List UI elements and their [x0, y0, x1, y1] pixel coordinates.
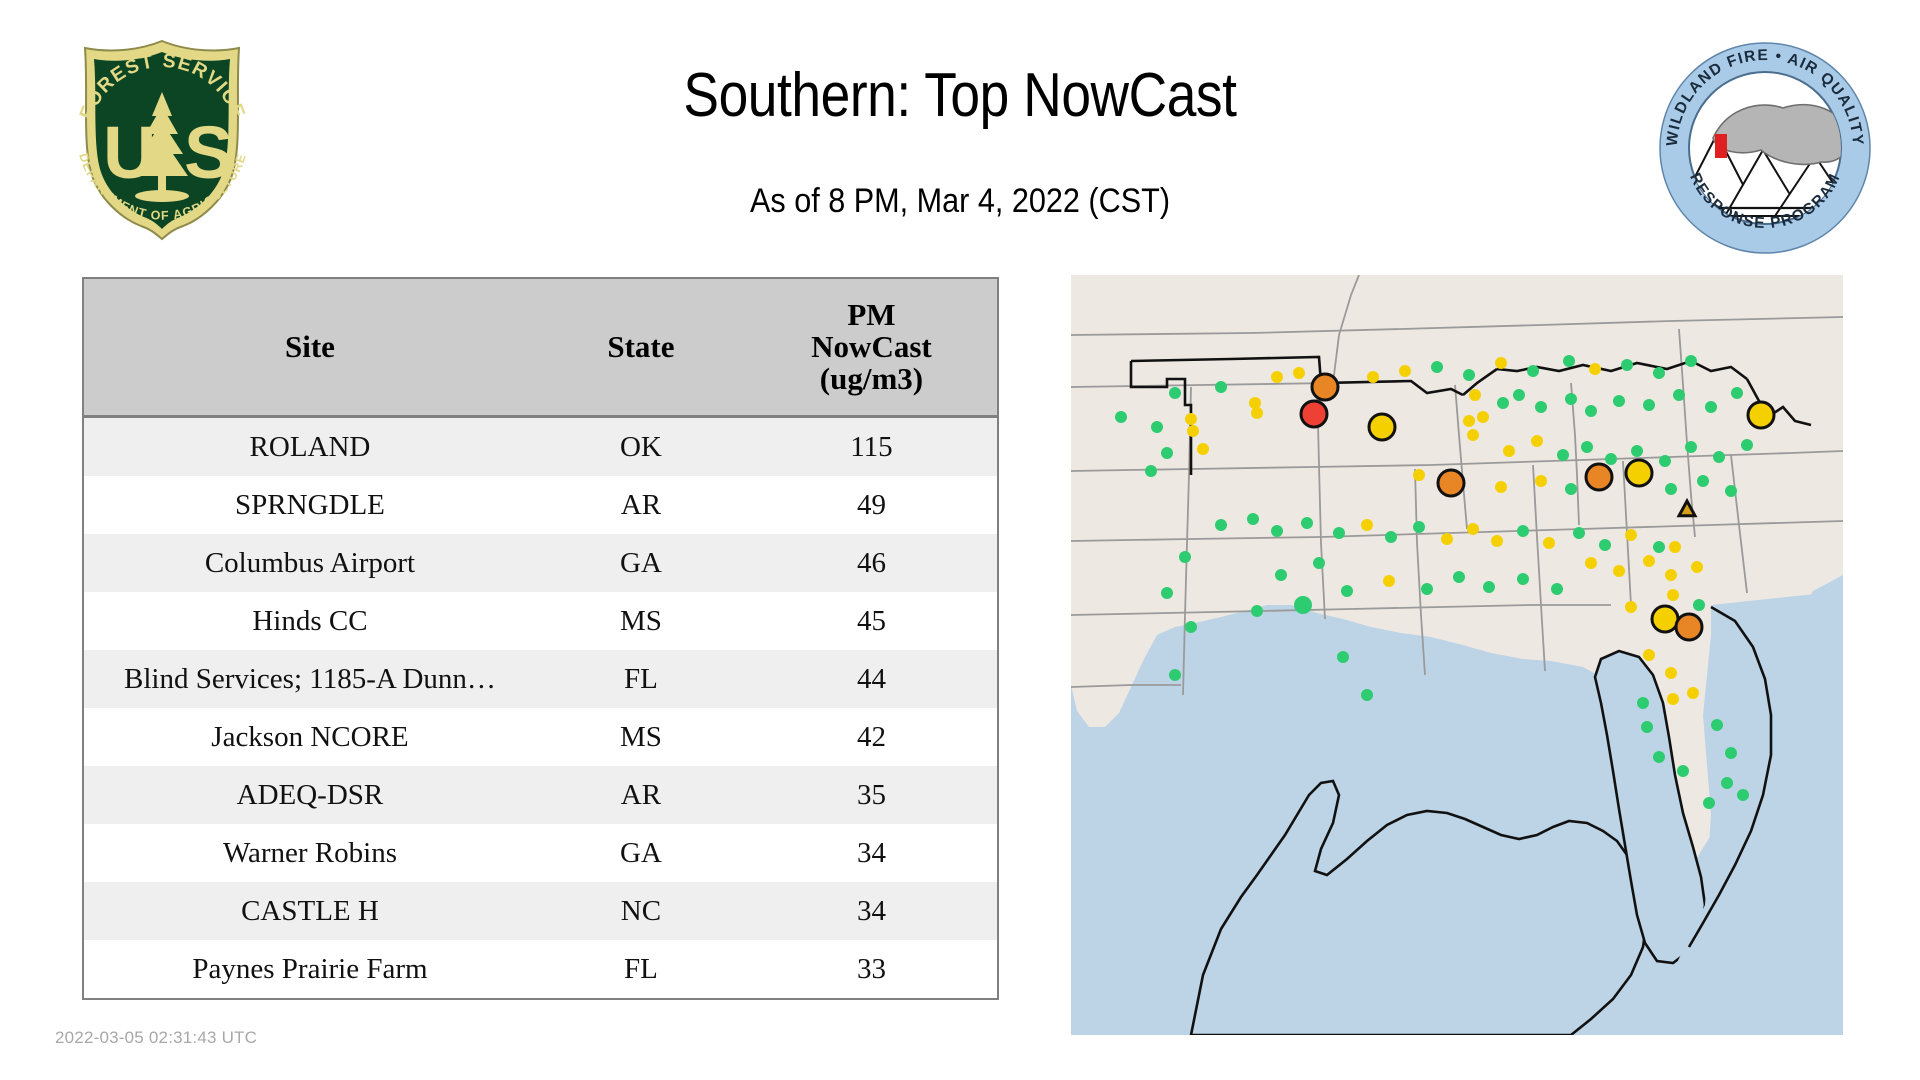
monitor-marker[interactable] — [1565, 393, 1577, 405]
nowcast-table: Site State PM NowCast (ug/m3) ROLANDOK11… — [84, 279, 997, 998]
monitor-marker[interactable] — [1453, 571, 1465, 583]
monitor-marker[interactable] — [1431, 361, 1443, 373]
monitor-marker[interactable] — [1581, 441, 1593, 453]
table-row[interactable]: Jackson NCOREMS42 — [84, 708, 997, 766]
monitor-marker[interactable] — [1669, 541, 1681, 553]
monitor-marker[interactable] — [1605, 453, 1617, 465]
cell-state: MS — [536, 592, 746, 650]
nowcast-table-container: Site State PM NowCast (ug/m3) ROLANDOK11… — [82, 277, 999, 1000]
table-row[interactable]: Paynes Prairie FarmFL33 — [84, 940, 997, 998]
monitor-marker[interactable] — [1293, 367, 1305, 379]
monitor-marker[interactable] — [1711, 719, 1723, 731]
monitor-marker[interactable] — [1693, 599, 1705, 611]
monitor-marker[interactable] — [1469, 389, 1481, 401]
monitor-marker[interactable] — [1421, 583, 1433, 595]
monitor-marker[interactable] — [1145, 465, 1157, 477]
monitor-marker[interactable] — [1249, 397, 1261, 409]
monitor-marker[interactable] — [1463, 415, 1475, 427]
cell-pm-nowcast: 44 — [746, 650, 997, 708]
monitor-marker[interactable] — [1383, 575, 1395, 587]
monitor-marker[interactable] — [1187, 425, 1199, 437]
monitor-marker[interactable] — [1399, 365, 1411, 377]
monitor-marker[interactable] — [1585, 557, 1597, 569]
cell-state: GA — [536, 534, 746, 592]
monitor-marker[interactable] — [1151, 421, 1163, 433]
svg-text:S: S — [184, 111, 233, 194]
monitor-marker[interactable] — [1685, 441, 1697, 453]
monitor-marker[interactable] — [1741, 439, 1753, 451]
monitor-marker[interactable] — [1413, 521, 1425, 533]
monitor-marker[interactable] — [1653, 751, 1665, 763]
monitor-marker[interactable] — [1483, 581, 1495, 593]
monitor-marker[interactable] — [1563, 355, 1575, 367]
table-row[interactable]: Warner RobinsGA34 — [84, 824, 997, 882]
column-header-site[interactable]: Site — [84, 279, 536, 417]
cell-pm-nowcast: 34 — [746, 824, 997, 882]
monitor-marker[interactable] — [1271, 371, 1283, 383]
monitor-marker[interactable] — [1361, 689, 1373, 701]
cell-pm-nowcast: 42 — [746, 708, 997, 766]
cell-pm-nowcast: 34 — [746, 882, 997, 940]
monitor-marker[interactable] — [1313, 557, 1325, 569]
monitor-marker[interactable] — [1467, 523, 1479, 535]
monitor-marker[interactable] — [1197, 443, 1209, 455]
cell-site: ROLAND — [84, 417, 536, 477]
cell-state: GA — [536, 824, 746, 882]
monitor-marker[interactable] — [1115, 411, 1127, 423]
cell-state: FL — [536, 650, 746, 708]
monitor-marker[interactable] — [1613, 395, 1625, 407]
monitor-marker[interactable] — [1586, 464, 1612, 490]
monitor-marker[interactable] — [1685, 355, 1697, 367]
monitor-marker[interactable] — [1215, 381, 1227, 393]
table-row[interactable]: ADEQ-DSRAR35 — [84, 766, 997, 824]
wfaqrp-circle-logo: WILDLAND FIRE • AIR QUALITY RESPONSE PRO… — [1655, 38, 1875, 258]
monitor-marker[interactable] — [1625, 601, 1637, 613]
slide-root: FOREST SERVICE DEPARTMENT OF AGRICULTURE… — [0, 0, 1920, 1080]
monitor-marker[interactable] — [1725, 485, 1737, 497]
monitor-marker[interactable] — [1599, 539, 1611, 551]
generated-timestamp: 2022-03-05 02:31:43 UTC — [55, 1028, 257, 1048]
monitor-marker[interactable] — [1625, 529, 1637, 541]
monitor-marker[interactable] — [1643, 399, 1655, 411]
column-header-pm-nowcast[interactable]: PM NowCast (ug/m3) — [746, 279, 997, 417]
monitor-marker[interactable] — [1294, 596, 1312, 614]
monitor-marker[interactable] — [1495, 357, 1507, 369]
cell-site: Jackson NCORE — [84, 708, 536, 766]
monitor-marker[interactable] — [1652, 606, 1678, 632]
monitor-marker[interactable] — [1737, 789, 1749, 801]
monitor-marker[interactable] — [1161, 447, 1173, 459]
monitor-marker[interactable] — [1463, 369, 1475, 381]
monitor-marker[interactable] — [1748, 402, 1774, 428]
monitor-marker[interactable] — [1215, 519, 1227, 531]
monitor-marker[interactable] — [1677, 765, 1689, 777]
air-quality-map[interactable]: Air Quality Index HazardousVery Unhealth… — [1071, 275, 1843, 1035]
cell-site: Hinds CC — [84, 592, 536, 650]
monitor-marker[interactable] — [1667, 693, 1679, 705]
cell-site: SPRNGDLE — [84, 476, 536, 534]
page-title: Southern: Top NowCast — [504, 60, 1416, 131]
monitor-marker[interactable] — [1369, 414, 1395, 440]
monitor-marker[interactable] — [1673, 389, 1685, 401]
pm-line-3: (ug/m3) — [820, 361, 923, 396]
monitor-marker[interactable] — [1367, 371, 1379, 383]
monitor-marker[interactable] — [1703, 797, 1715, 809]
pm-line-1: PM — [847, 297, 895, 332]
monitor-marker[interactable] — [1713, 451, 1725, 463]
monitor-marker[interactable] — [1341, 585, 1353, 597]
monitor-marker[interactable] — [1441, 533, 1453, 545]
cell-state: AR — [536, 766, 746, 824]
monitor-marker[interactable] — [1589, 363, 1601, 375]
table-row[interactable]: ROLANDOK115 — [84, 417, 997, 477]
monitor-marker[interactable] — [1185, 413, 1197, 425]
cell-site: CASTLE H — [84, 882, 536, 940]
monitor-marker[interactable] — [1565, 483, 1577, 495]
monitor-marker[interactable] — [1497, 397, 1509, 409]
monitor-marker[interactable] — [1361, 519, 1373, 531]
monitor-marker[interactable] — [1438, 470, 1464, 496]
monitor-marker[interactable] — [1247, 513, 1259, 525]
monitor-marker[interactable] — [1179, 551, 1191, 563]
monitor-marker[interactable] — [1251, 605, 1263, 617]
table-row[interactable]: CASTLE HNC34 — [84, 882, 997, 940]
monitor-marker[interactable] — [1185, 621, 1197, 633]
pm-line-2: NowCast — [811, 329, 932, 364]
cell-site: Warner Robins — [84, 824, 536, 882]
cell-state: MS — [536, 708, 746, 766]
monitor-marker[interactable] — [1275, 569, 1287, 581]
monitor-marker[interactable] — [1643, 649, 1655, 661]
monitor-marker[interactable] — [1665, 569, 1677, 581]
monitor-marker[interactable] — [1573, 527, 1585, 539]
monitor-marker[interactable] — [1731, 387, 1743, 399]
monitor-marker[interactable] — [1491, 535, 1503, 547]
cell-site: ADEQ-DSR — [84, 766, 536, 824]
monitor-marker[interactable] — [1413, 469, 1425, 481]
table-row[interactable]: SPRNGDLEAR49 — [84, 476, 997, 534]
monitor-marker[interactable] — [1676, 614, 1702, 640]
monitor-marker[interactable] — [1653, 367, 1665, 379]
monitor-marker[interactable] — [1503, 445, 1515, 457]
monitor-marker[interactable] — [1535, 475, 1547, 487]
monitor-marker[interactable] — [1527, 365, 1539, 377]
monitor-marker[interactable] — [1467, 429, 1479, 441]
cell-state: AR — [536, 476, 746, 534]
monitor-marker[interactable] — [1513, 389, 1525, 401]
monitor-marker[interactable] — [1687, 687, 1699, 699]
monitor-marker[interactable] — [1637, 697, 1649, 709]
monitor-marker[interactable] — [1697, 475, 1709, 487]
monitor-marker[interactable] — [1643, 555, 1655, 567]
monitor-marker[interactable] — [1385, 531, 1397, 543]
monitor-marker[interactable] — [1551, 583, 1563, 595]
table-row[interactable]: Hinds CCMS45 — [84, 592, 997, 650]
cell-pm-nowcast: 49 — [746, 476, 997, 534]
usfs-shield-logo: FOREST SERVICE DEPARTMENT OF AGRICULTURE… — [55, 30, 270, 245]
monitor-marker[interactable] — [1665, 667, 1677, 679]
monitor-marker[interactable] — [1691, 561, 1703, 573]
monitor-marker[interactable] — [1543, 537, 1555, 549]
column-header-state[interactable]: State — [536, 279, 746, 417]
monitor-marker[interactable] — [1721, 777, 1733, 789]
monitor-marker[interactable] — [1169, 387, 1181, 399]
map-canvas[interactable] — [1071, 275, 1843, 1035]
monitor-marker[interactable] — [1705, 401, 1717, 413]
cell-state: NC — [536, 882, 746, 940]
monitor-marker[interactable] — [1641, 721, 1653, 733]
monitor-marker[interactable] — [1631, 445, 1643, 457]
cell-pm-nowcast: 45 — [746, 592, 997, 650]
monitor-marker[interactable] — [1301, 401, 1327, 427]
cell-site: Columbus Airport — [84, 534, 536, 592]
monitor-marker[interactable] — [1613, 565, 1625, 577]
cell-state: FL — [536, 940, 746, 998]
monitor-marker[interactable] — [1271, 525, 1283, 537]
cell-site: Paynes Prairie Farm — [84, 940, 536, 998]
monitor-marker[interactable] — [1585, 405, 1597, 417]
monitor-marker[interactable] — [1517, 525, 1529, 537]
page-subtitle: As of 8 PM, Mar 4, 2022 (CST) — [483, 182, 1437, 221]
cell-state: OK — [536, 417, 746, 477]
monitor-marker[interactable] — [1725, 747, 1737, 759]
monitor-marker[interactable] — [1169, 669, 1181, 681]
cell-pm-nowcast: 35 — [746, 766, 997, 824]
monitor-marker[interactable] — [1531, 435, 1543, 447]
monitor-marker[interactable] — [1161, 587, 1173, 599]
monitor-marker[interactable] — [1333, 527, 1345, 539]
monitor-marker[interactable] — [1626, 460, 1652, 486]
monitor-marker[interactable] — [1557, 449, 1569, 461]
monitor-marker[interactable] — [1665, 483, 1677, 495]
monitor-marker[interactable] — [1621, 359, 1633, 371]
table-row[interactable]: Blind Services; 1185-A Dunn…FL44 — [84, 650, 997, 708]
monitor-marker[interactable] — [1667, 589, 1679, 601]
cell-pm-nowcast: 46 — [746, 534, 997, 592]
table-header-row: Site State PM NowCast (ug/m3) — [84, 279, 997, 417]
monitor-marker[interactable] — [1653, 541, 1665, 553]
monitor-marker[interactable] — [1312, 374, 1338, 400]
table-row[interactable]: Columbus AirportGA46 — [84, 534, 997, 592]
monitor-marker[interactable] — [1477, 411, 1489, 423]
cell-pm-nowcast: 33 — [746, 940, 997, 998]
monitor-marker[interactable] — [1337, 651, 1349, 663]
monitor-marker[interactable] — [1517, 573, 1529, 585]
cell-pm-nowcast: 115 — [746, 417, 997, 477]
monitor-marker[interactable] — [1535, 401, 1547, 413]
cell-site: Blind Services; 1185-A Dunn… — [84, 650, 536, 708]
monitor-marker[interactable] — [1659, 455, 1671, 467]
monitor-marker[interactable] — [1495, 481, 1507, 493]
monitor-marker[interactable] — [1301, 517, 1313, 529]
monitor-marker[interactable] — [1251, 407, 1263, 419]
